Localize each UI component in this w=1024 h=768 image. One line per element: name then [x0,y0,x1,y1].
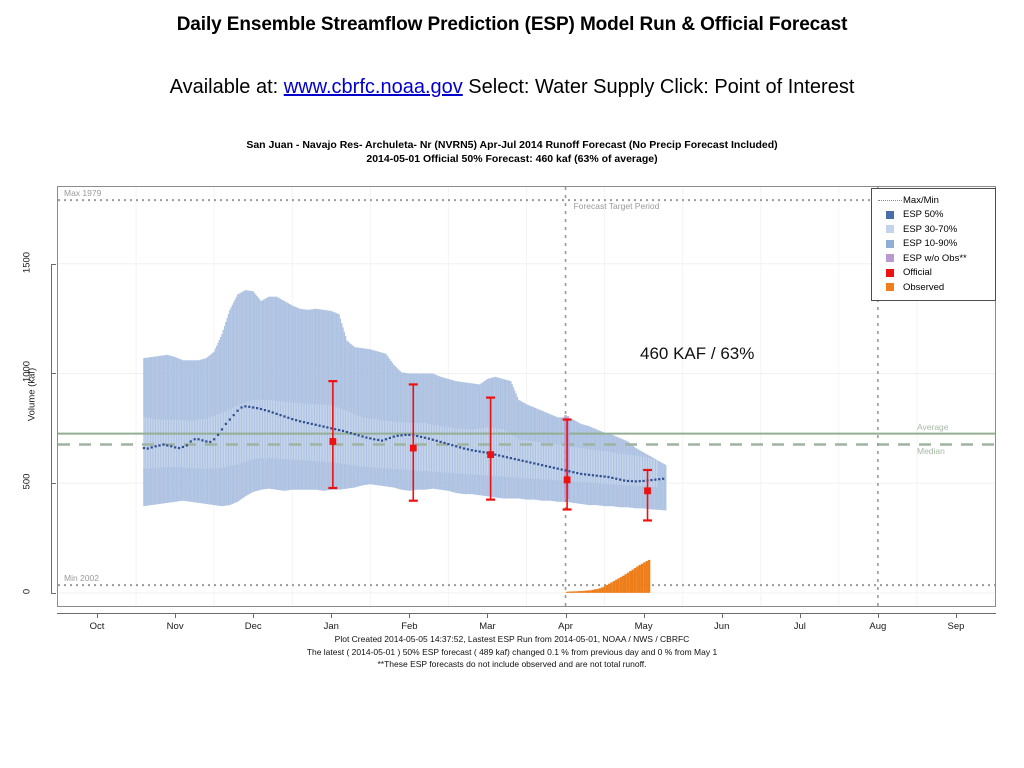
x-tick-mark [253,613,254,618]
esp-forecast-chart: San Juan - Navajo Res- Archuleta- Nr (NV… [0,132,1024,722]
series-esp-10-90- [143,290,666,510]
x-tick-label: Oct [72,621,122,632]
x-tick-label: Apr [541,621,591,632]
series-observed [566,560,650,593]
page-title: Daily Ensemble Streamflow Prediction (ES… [0,14,1024,36]
y-tick-label: 0 [22,571,33,611]
x-tick-mark [487,613,488,618]
x-tick-mark [566,613,567,618]
dotted-line-icon [878,200,902,201]
x-tick-mark [644,613,645,618]
chart-title: San Juan - Navajo Res- Archuleta- Nr (NV… [0,138,1024,166]
legend-item-esp-10-90: ESP 10-90% [877,237,990,252]
legend-item-label: Max/Min [903,195,939,206]
legend-swatch-icon [877,225,903,233]
footer-line-1: Plot Created 2014-05-05 14:37:52, Lastes… [0,633,1024,646]
page-subtitle: Available at: www.cbrfc.noaa.gov Select:… [0,76,1024,99]
color-swatch-icon [886,225,894,233]
x-tick-label: May [619,621,669,632]
legend-item-esp-30-70: ESP 30-70% [877,222,990,237]
x-tick-label: Sep [931,621,981,632]
legend-item-observed: Observed [877,280,990,295]
chart-title-line1: San Juan - Navajo Res- Archuleta- Nr (NV… [0,138,1024,152]
x-tick-label: Jul [775,621,825,632]
legend-item-label: ESP 50% [903,209,944,220]
y-tick-label: 1000 [22,352,33,392]
color-swatch-icon [886,254,894,262]
cbrfc-website-link[interactable]: www.cbrfc.noaa.gov [284,76,463,98]
legend-item-label: ESP 30-70% [903,224,957,235]
y-tick-label: 1500 [22,242,33,282]
chart-legend: Max/MinESP 50%ESP 30-70%ESP 10-90%ESP w/… [871,188,996,301]
legend-item-label: ESP 10-90% [903,238,957,249]
color-swatch-icon [886,211,894,219]
plot-canvas [58,187,995,606]
x-tick-label: Mar [462,621,512,632]
subtitle-suffix: Select: Water Supply Click: Point of Int… [463,76,855,98]
x-tick-mark [331,613,332,618]
color-swatch-icon [886,269,894,277]
legend-swatch-icon [877,200,903,201]
legend-item-label: Official [903,267,932,278]
max-line-label: Max 1979 [64,188,101,198]
legend-item-esp-w-o-obs: ESP w/o Obs** [877,251,990,266]
y-tick-mark [51,593,56,594]
x-tick-mark [722,613,723,618]
x-tick-label: Aug [853,621,903,632]
legend-swatch-icon [877,240,903,248]
color-swatch-icon [886,283,894,291]
color-swatch-icon [886,240,894,248]
chart-title-line2: 2014-05-01 Official 50% Forecast: 460 ka… [0,152,1024,166]
legend-item-max-min: Max/Min [877,193,990,208]
footer-line-3: **These ESP forecasts do not include obs… [0,658,1024,671]
x-tick-mark [97,613,98,618]
x-axis-line [57,613,996,614]
subtitle-prefix: Available at: [170,76,284,98]
min-line-label: Min 2002 [64,573,99,583]
x-tick-mark [409,613,410,618]
y-axis-line [51,264,52,593]
x-tick-mark [878,613,879,618]
x-tick-label: Jun [697,621,747,632]
legend-item-esp-50: ESP 50% [877,208,990,223]
x-tick-label: Jan [306,621,356,632]
forecast-target-period-label: Forecast Target Period [574,201,660,211]
average-line-label: Average [917,422,949,432]
legend-swatch-icon [877,211,903,219]
legend-item-label: Observed [903,282,944,293]
x-tick-label: Dec [228,621,278,632]
x-tick-mark [800,613,801,618]
legend-item-label: ESP w/o Obs** [903,253,967,264]
forecast-value-annotation: 460 KAF / 63% [640,344,754,364]
x-tick-mark [175,613,176,618]
legend-swatch-icon [877,269,903,277]
legend-item-official: Official [877,266,990,281]
x-tick-label: Feb [384,621,434,632]
legend-swatch-icon [877,283,903,291]
x-tick-label: Nov [150,621,200,632]
plot-area: Max 1979Min 2002AverageMedianForecast Ta… [57,186,996,607]
x-tick-mark [956,613,957,618]
chart-footer: Plot Created 2014-05-05 14:37:52, Lastes… [0,633,1024,671]
footer-line-2: The latest ( 2014-05-01 ) 50% ESP foreca… [0,646,1024,659]
y-tick-label: 500 [22,462,33,502]
median-line-label: Median [917,446,945,456]
page-title-text: Daily Ensemble Streamflow Prediction (ES… [177,14,848,35]
legend-swatch-icon [877,254,903,262]
